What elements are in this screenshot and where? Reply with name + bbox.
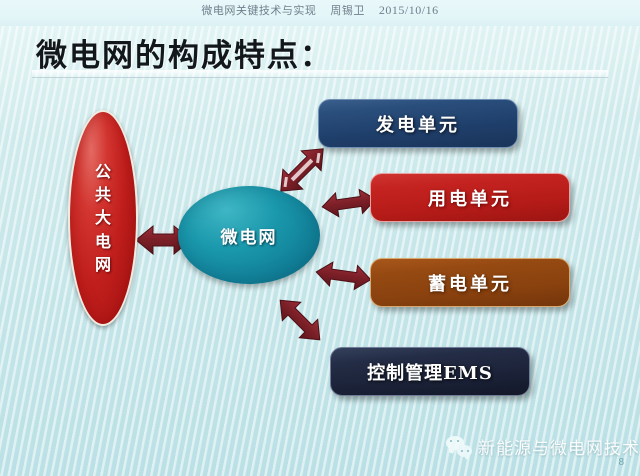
load-unit-label: 用电单元 <box>428 185 512 211</box>
public-grid-char-3: 电 <box>95 230 111 253</box>
footer-watermark: 新能源与微电网技术 <box>446 434 640 459</box>
public-grid-char-1: 共 <box>95 183 111 206</box>
arrow-microgrid-ems <box>271 291 329 349</box>
ems-unit-label: 控制管理EMS <box>367 359 493 385</box>
arrow-microgrid-storage <box>315 260 373 291</box>
microgrid-node[interactable]: 微电网 <box>178 186 320 284</box>
public-grid-label: 公 共 大 电 网 <box>70 112 136 324</box>
page-number: 8 <box>618 457 624 468</box>
wechat-icon <box>446 436 472 457</box>
storage-unit-label: 蓄电单元 <box>428 270 512 296</box>
public-grid-char-0: 公 <box>95 160 111 183</box>
public-grid-char-4: 网 <box>95 253 111 276</box>
generation-unit-box[interactable]: 发电单元 <box>318 99 518 148</box>
generation-unit-label: 发电单元 <box>376 111 460 137</box>
footer-watermark-label: 新能源与微电网技术 <box>478 434 640 459</box>
storage-unit-box[interactable]: 蓄电单元 <box>370 258 570 307</box>
public-grid-node[interactable]: 公 共 大 电 网 <box>68 110 138 326</box>
ems-unit-box[interactable]: 控制管理EMS <box>330 347 530 396</box>
slide-canvas: 微电网关键技术与实现 周锡卫 2015/10/16 微电网的构成特点： <box>0 0 640 476</box>
arrow-microgrid-load <box>321 187 378 218</box>
public-grid-char-2: 大 <box>95 206 111 229</box>
microgrid-label: 微电网 <box>221 223 278 248</box>
load-unit-box[interactable]: 用电单元 <box>370 173 570 222</box>
